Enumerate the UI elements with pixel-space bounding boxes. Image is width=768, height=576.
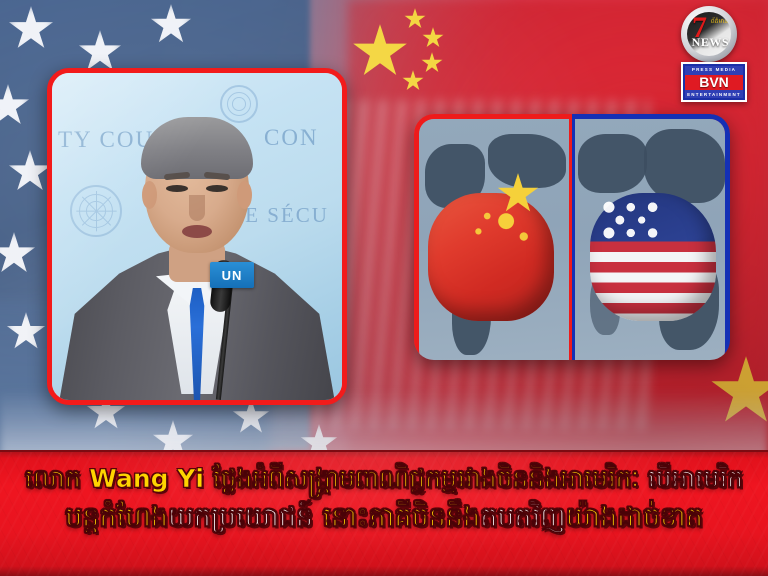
caption-segment: បន្តកំហែង xyxy=(65,502,168,533)
subject-nose xyxy=(189,195,205,221)
bvn-wordmark: BVN xyxy=(685,75,743,90)
un-emblem-icon xyxy=(70,185,122,237)
bvn-logo-box: PRESS MEDIA BVN ENTERTAINMENT xyxy=(683,64,745,100)
caption-line-2: បន្តកំហែងយកប្រយោជន៍ នោះភាគីចិននឹងតបតវិញយ… xyxy=(0,500,768,536)
china-fist-panel xyxy=(414,114,572,360)
usa-flag-fist xyxy=(590,193,716,321)
caption-segment: តបតវិញ xyxy=(480,502,566,533)
china-flag-fist xyxy=(428,193,554,321)
logo-news-word: NEWS xyxy=(692,35,729,50)
caption-segment: នោះភាគីចិននឹង xyxy=(323,502,481,533)
un-emblem-icon xyxy=(220,85,258,123)
usa-fist-stars xyxy=(598,198,676,244)
china-usa-fists-card xyxy=(414,114,730,360)
partner-logo-bvn[interactable]: PRESS MEDIA BVN ENTERTAINMENT xyxy=(681,62,747,102)
landmass-shape xyxy=(644,129,725,203)
caption-segment: យកប្រយោជន៍ xyxy=(168,502,323,533)
news-graphic-stage: TY COUN CON DE SÉCU UN xyxy=(0,0,768,576)
subject-mouth xyxy=(182,225,212,238)
caption-line-1: លោក Wang Yi ថ្លែងអំពីសង្គ្រាមពាណិជ្ជកម្ម… xyxy=(0,462,768,496)
channel-logo-7news[interactable]: 7 ព័ត៌មាន NEWS xyxy=(681,6,737,62)
caption-segment: យ៉ាងដាច់ខាត xyxy=(566,502,703,533)
channel-logo-inner: 7 ព័ត៌មាន NEWS xyxy=(687,12,731,56)
bvn-press-media-text: PRESS MEDIA xyxy=(692,66,736,73)
un-microphone-flag: UN xyxy=(210,262,254,288)
wang-yi-photo-card: TY COUN CON DE SÉCU UN xyxy=(47,68,347,405)
news-caption-banner: លោក Wang Yi ថ្លែងអំពីសង្គ្រាមពាណិជ្ជកម្ម… xyxy=(0,450,768,576)
landmass-shape xyxy=(488,134,566,188)
subject-ear-right xyxy=(237,181,252,209)
subject-eye-right xyxy=(206,185,228,192)
caption-segment: លោក Wang Yi ថ្លែងអំពីសង្គ្រាមពាណិជ្ជកម្ម… xyxy=(25,464,648,493)
subject-ear-left xyxy=(142,181,157,209)
caption-segment: បើអាមេរិក xyxy=(648,464,743,493)
bvn-entertainment-text: ENTERTAINMENT xyxy=(687,91,741,98)
logo-khmer-text: ព័ត៌មាន xyxy=(711,17,728,26)
usa-fist-panel xyxy=(572,114,730,360)
un-backdrop-text-conseil: CON xyxy=(264,125,319,151)
landmass-shape xyxy=(578,134,647,193)
subject-eye-left xyxy=(166,185,188,192)
un-emblem-spokes xyxy=(72,187,120,235)
